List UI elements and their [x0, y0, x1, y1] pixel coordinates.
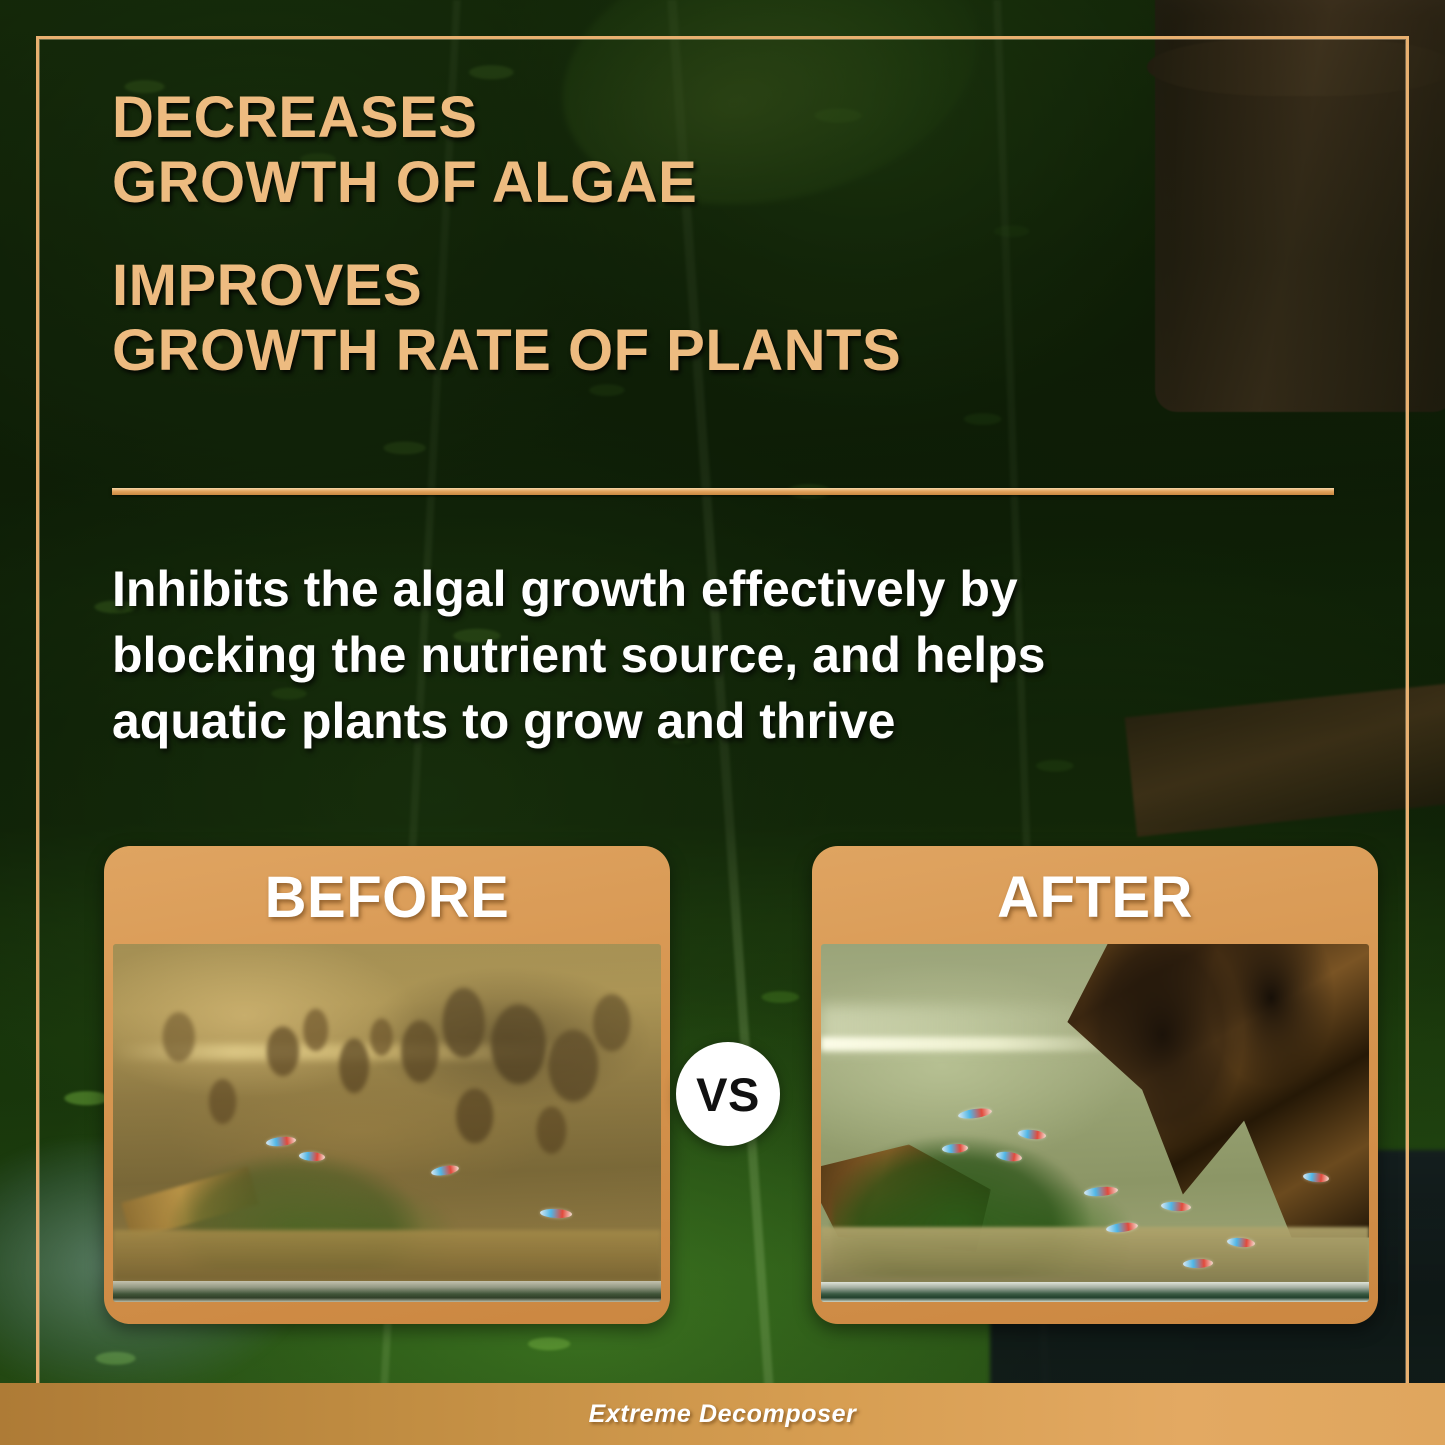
versus-badge-label: VS — [696, 1067, 760, 1122]
after-aquarium-photo — [821, 944, 1369, 1302]
body-copy-block: Inhibits the algal growth effectively by… — [112, 556, 1342, 754]
before-aquarium-photo — [113, 944, 661, 1302]
before-card-label: BEFORE — [104, 860, 670, 934]
headline-line-2: GROWTH OF ALGAE — [112, 151, 1232, 216]
after-substrate — [821, 1227, 1369, 1284]
headline-block: DECREASES GROWTH OF ALGAE IMPROVES GROWT… — [112, 86, 1232, 384]
after-tank-glass-base — [821, 1282, 1369, 1302]
body-line-1: Inhibits the algal growth effectively by — [112, 556, 1342, 622]
footer-bar: Extreme Decomposer — [0, 1383, 1445, 1445]
headline-line-1: DECREASES — [112, 86, 1232, 151]
body-line-3: aquatic plants to grow and thrive — [112, 688, 1342, 754]
headline-line-4: GROWTH RATE OF PLANTS — [112, 319, 1232, 384]
after-card: AFTER — [812, 846, 1378, 1324]
headline-line-3: IMPROVES — [112, 254, 1232, 319]
versus-badge: VS — [676, 1042, 780, 1146]
product-name: Extreme Decomposer — [589, 1400, 857, 1429]
before-murky-haze — [113, 944, 661, 1302]
before-card: BEFORE — [104, 846, 670, 1324]
body-line-2: blocking the nutrient source, and helps — [112, 622, 1342, 688]
after-card-label: AFTER — [812, 860, 1378, 934]
product-feature-poster: DECREASES GROWTH OF ALGAE IMPROVES GROWT… — [0, 0, 1445, 1445]
gold-divider-line — [112, 488, 1334, 495]
headline-spacer — [112, 216, 1232, 254]
